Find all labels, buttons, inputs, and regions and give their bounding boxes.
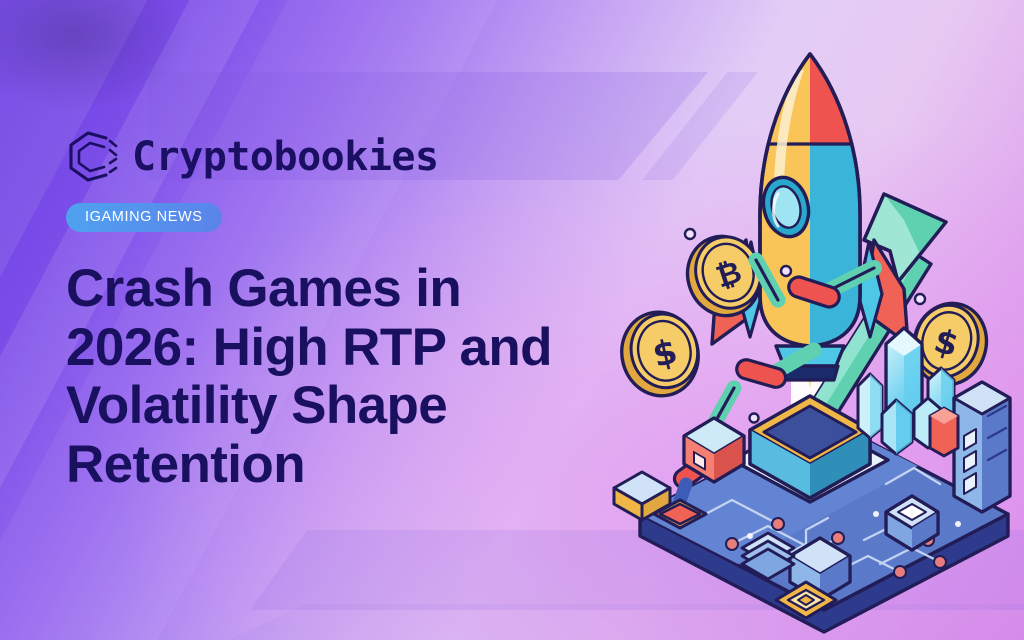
stripe-2: [0, 0, 2, 640]
corner-vignette: [0, 0, 190, 110]
server-tower-icon: [954, 382, 1010, 512]
rocket-launch-illustration: ₿ $ $: [628, 44, 1020, 610]
banner-content: Cryptobookies IGAMING NEWS Crash Games i…: [66, 128, 666, 494]
brand-lockup: Cryptobookies: [66, 128, 666, 186]
article-banner: Cryptobookies IGAMING NEWS Crash Games i…: [0, 0, 1024, 640]
red-chip-icon: [930, 408, 958, 456]
category-badge[interactable]: IGAMING NEWS: [66, 203, 222, 232]
page-title: Crash Games in 2026: High RTP and Volati…: [66, 260, 626, 494]
brand-name: Cryptobookies: [132, 137, 439, 177]
hexagon-c-logo-icon: [66, 130, 118, 184]
